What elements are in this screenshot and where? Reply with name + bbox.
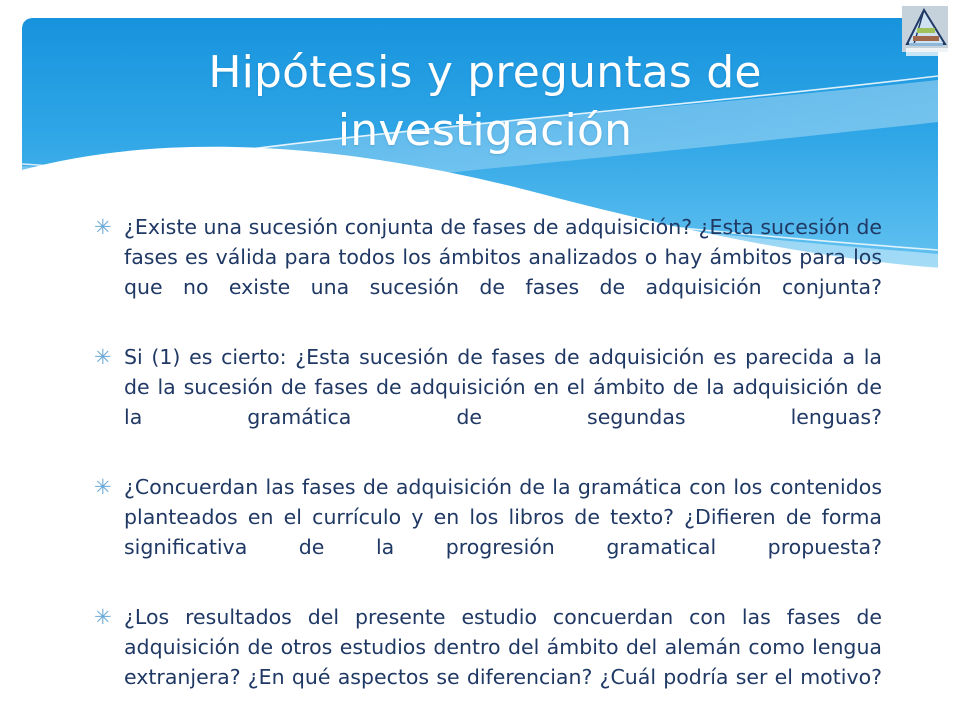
list-item: ✳ ¿Concuerdan las fases de adquisición d… — [92, 472, 882, 592]
bullet-asterisk-icon: ✳ — [92, 342, 124, 372]
list-item: ✳ ¿Existe una sucesión conjunta de fases… — [92, 212, 882, 332]
pyramid-logo-icon — [898, 4, 954, 58]
bullet-text: ¿Los resultados del presente estudio con… — [124, 602, 882, 720]
slide-title: Hipótesis y preguntas de investigación — [70, 44, 900, 160]
bullet-text: ¿Concuerdan las fases de adquisición de … — [124, 472, 882, 592]
bullet-asterisk-icon: ✳ — [92, 212, 124, 242]
pyramid-logo — [898, 4, 954, 58]
bullet-text: Si (1) es cierto: ¿Esta sucesión de fase… — [124, 342, 882, 462]
bullet-text: ¿Existe una sucesión conjunta de fases d… — [124, 212, 882, 332]
bullet-list: ✳ ¿Existe una sucesión conjunta de fases… — [92, 212, 882, 720]
bullet-asterisk-icon: ✳ — [92, 602, 124, 632]
list-item: ✳ ¿Los resultados del presente estudio c… — [92, 602, 882, 720]
list-item: ✳ Si (1) es cierto: ¿Esta sucesión de fa… — [92, 342, 882, 462]
presentation-slide: Hipótesis y preguntas de investigación ✳… — [0, 0, 960, 720]
bullet-asterisk-icon: ✳ — [92, 472, 124, 502]
